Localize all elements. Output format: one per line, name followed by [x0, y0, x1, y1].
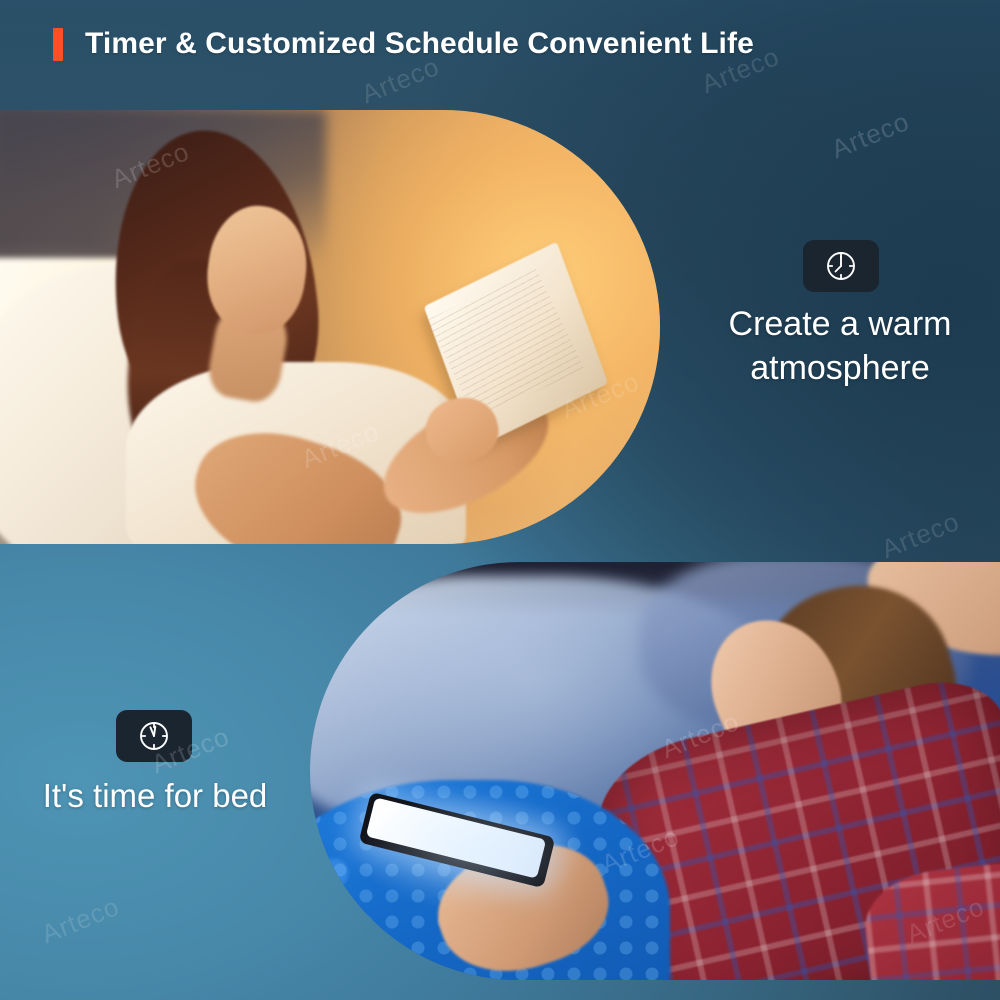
- timer-badge-night: [116, 710, 192, 762]
- page-title: Timer & Customized Schedule Convenient L…: [85, 27, 754, 61]
- timer-badge-warm: [803, 240, 879, 292]
- caption-night: It's time for bed: [8, 775, 302, 817]
- watermark: Arteco: [827, 106, 914, 165]
- clock-icon: [824, 249, 858, 283]
- photo-warm-reading: [0, 110, 660, 544]
- clock-icon: [137, 719, 171, 753]
- watermark: Arteco: [37, 891, 124, 950]
- header: Timer & Customized Schedule Convenient L…: [0, 0, 1000, 88]
- watermark: Arteco: [877, 506, 964, 565]
- poster-root: Timer & Customized Schedule Convenient L…: [0, 0, 1000, 1000]
- accent-bar: [53, 28, 63, 61]
- caption-warm: Create a warm atmosphere: [690, 303, 990, 390]
- photo-night-bed: [310, 562, 1000, 980]
